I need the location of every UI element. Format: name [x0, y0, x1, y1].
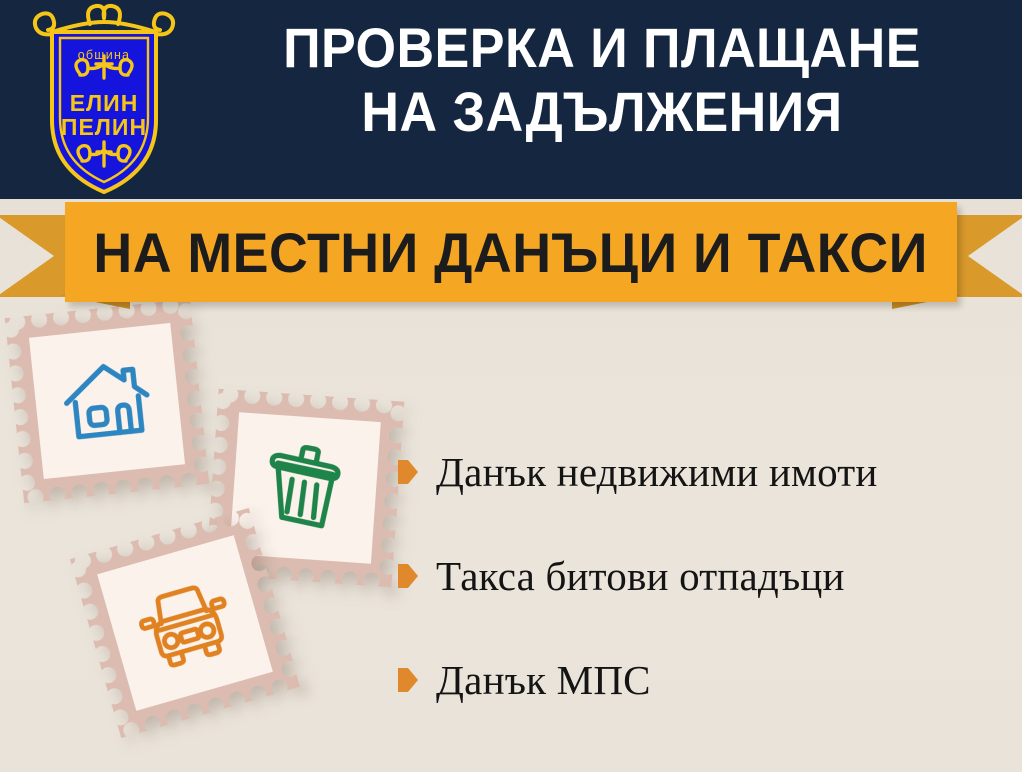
arrow-bullet-icon: [398, 564, 418, 588]
list-item-label: Данък недвижими имоти: [436, 448, 878, 496]
tax-types-list: Данък недвижими имоти Такса битови отпад…: [398, 420, 1008, 732]
stamp-collage: [0, 300, 430, 772]
trash-bin-icon: [254, 437, 356, 539]
page-title-line-1: ПРОВЕРКА И ПЛАЩАНЕ: [224, 16, 979, 80]
crest-logo: община ЕЛИН ПЕЛИН: [24, 2, 184, 197]
stamp-house: [5, 299, 209, 503]
coat-of-arms-icon: [24, 2, 184, 197]
arrow-bullet-icon: [398, 460, 418, 484]
ribbon-banner: НА МЕСТНИ ДАНЪЦИ И ТАКСИ: [65, 202, 957, 302]
subtitle-ribbon: НА МЕСТНИ ДАНЪЦИ И ТАКСИ: [0, 199, 1022, 314]
ribbon-label: НА МЕСТНИ ДАНЪЦИ И ТАКСИ: [94, 220, 928, 285]
car-icon: [126, 564, 245, 683]
list-item[interactable]: Данък МПС: [398, 628, 1008, 732]
arrow-bullet-icon: [398, 668, 418, 692]
header-bar: община ЕЛИН ПЕЛИН ПРОВЕРКА И ПЛАЩАНЕ НА …: [0, 0, 1022, 199]
list-item[interactable]: Такса битови отпадъци: [398, 524, 1008, 628]
page-title-line-2: НА ЗАДЪЛЖЕНИЯ: [224, 80, 979, 144]
list-item-label: Данък МПС: [436, 656, 651, 704]
page-title: ПРОВЕРКА И ПЛАЩАНЕ НА ЗАДЪЛЖЕНИЯ: [224, 16, 979, 144]
poster-canvas: община ЕЛИН ПЕЛИН ПРОВЕРКА И ПЛАЩАНЕ НА …: [0, 0, 1022, 772]
list-item-label: Такса битови отпадъци: [436, 552, 845, 600]
house-icon: [54, 348, 160, 454]
list-item[interactable]: Данък недвижими имоти: [398, 420, 1008, 524]
